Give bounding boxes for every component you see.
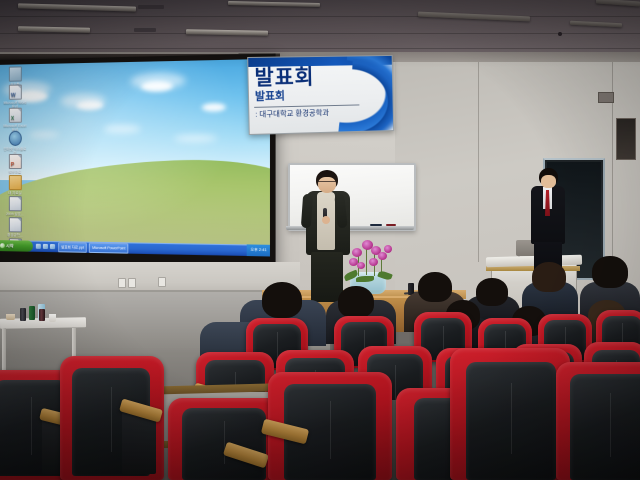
windows-logo-icon xyxy=(0,243,5,248)
banner-subtitle: 발표회 xyxy=(255,90,285,104)
quick-launch-icon[interactable] xyxy=(50,244,55,249)
ceiling-light-fixture xyxy=(186,29,268,35)
green-bottle xyxy=(29,306,35,320)
audience-head xyxy=(532,262,566,292)
orchid-bloom xyxy=(369,258,378,266)
icon-label: PPT 발표회... xyxy=(3,254,27,256)
banner-swoosh-graphic-2 xyxy=(349,59,394,135)
ceiling-light-fixture xyxy=(418,12,530,22)
start-button[interactable]: 시작 xyxy=(0,240,33,252)
orchid-bloom xyxy=(384,245,392,253)
ie-glyph xyxy=(8,131,21,146)
wall-mounted-box xyxy=(598,92,614,103)
ceiling-light-fixture xyxy=(18,3,136,11)
ceiling-vent xyxy=(134,28,156,32)
quick-launch-icon[interactable] xyxy=(36,244,41,249)
audience-head xyxy=(476,278,508,306)
orchid-bloom xyxy=(357,262,365,269)
excel-doc-glyph xyxy=(8,108,21,123)
start-button-label: 시작 xyxy=(6,240,14,251)
presenter-hand xyxy=(322,216,330,224)
banner-department-line: : 대구대학교 환경공학과 xyxy=(255,108,329,120)
taskbar-task-1[interactable]: 발표회 자료.ppt xyxy=(58,242,87,253)
lecture-hall-photo: 휴지통 Microsoft Word 문서 Microsoft Excel 문서… xyxy=(0,0,640,480)
audience-head xyxy=(592,256,628,288)
auditorium-seat[interactable] xyxy=(450,348,570,480)
tray-clock: 오후 2:41 xyxy=(250,244,266,256)
auditorium-seat[interactable] xyxy=(268,372,392,480)
orchid-bloom xyxy=(378,252,387,260)
orchid-leaf xyxy=(356,276,374,282)
icon-label: 환경공학... xyxy=(3,233,27,237)
audience-head xyxy=(418,272,452,302)
word-doc-glyph xyxy=(8,85,21,100)
audience-head xyxy=(338,286,374,318)
paper-cup xyxy=(6,314,15,320)
auditorium-seat[interactable] xyxy=(556,362,640,480)
file-doc-icon-2[interactable]: 환경공학... xyxy=(3,217,27,237)
whiteboard-marker[interactable] xyxy=(386,224,396,226)
ceiling-light-fixture xyxy=(228,1,320,7)
folder-icon[interactable]: 내 자료실 xyxy=(3,175,27,195)
ppt-doc-icon[interactable]: 발표자료 xyxy=(3,154,27,174)
glasses-icon xyxy=(318,181,336,185)
drink-can xyxy=(39,309,45,321)
ceiling-vent xyxy=(138,5,164,9)
taskbar-task-list[interactable]: 발표회 자료.ppt Microsoft PowerPoint xyxy=(58,242,247,256)
file-doc-glyph xyxy=(8,196,21,211)
event-banner: 발표회 발표회 : 대구대학교 환경공학과 xyxy=(247,55,394,135)
projection-surface: 휴지통 Microsoft Word 문서 Microsoft Excel 문서… xyxy=(0,59,270,257)
table-leg xyxy=(2,328,6,370)
ppt-doc-glyph xyxy=(8,154,21,169)
icon-label: 2009 발표... xyxy=(3,212,27,216)
staff-face xyxy=(541,175,556,188)
banner-title: 발표회 xyxy=(254,67,314,90)
ceiling-light-fixture xyxy=(18,26,90,33)
audience-head xyxy=(262,282,302,318)
power-outlet xyxy=(118,278,126,288)
presenter-trousers xyxy=(311,252,343,302)
presenter-with-microphone xyxy=(300,170,356,302)
ceiling-sensor xyxy=(558,32,562,36)
power-outlet xyxy=(158,277,166,287)
icon-label: 발표자료 xyxy=(3,170,27,174)
system-tray[interactable]: 오후 2:41 xyxy=(247,244,270,256)
file-doc-glyph xyxy=(8,217,21,232)
wall-panel-dark xyxy=(616,118,636,160)
taskbar-task-2[interactable]: Microsoft PowerPoint xyxy=(89,242,129,253)
auditorium-seat[interactable] xyxy=(168,398,280,480)
whiteboard-marker[interactable] xyxy=(370,224,382,226)
word-doc-icon[interactable]: Microsoft Word 문서 xyxy=(3,84,27,108)
recycle-bin-glyph xyxy=(8,66,21,81)
quick-launch-icon[interactable] xyxy=(43,244,48,249)
ceiling-light-fixture xyxy=(570,21,622,28)
icon-label: 내 자료실 xyxy=(3,191,27,195)
power-outlet xyxy=(128,278,136,288)
drink-can xyxy=(20,308,26,321)
folder-glyph xyxy=(8,175,21,190)
quick-launch-bar[interactable] xyxy=(33,244,58,250)
ie-icon[interactable]: 인터넷 익스플로러 xyxy=(3,131,27,155)
auditorium-seat[interactable] xyxy=(60,356,164,480)
paper-cup xyxy=(49,314,56,322)
file-doc-icon-1[interactable]: 2009 발표... xyxy=(3,196,27,216)
ceiling-light-fixture xyxy=(596,0,640,7)
presenter-face xyxy=(318,177,336,193)
projection-screen[interactable]: 휴지통 Microsoft Word 문서 Microsoft Excel 문서… xyxy=(0,53,276,272)
excel-doc-icon[interactable]: Microsoft Excel 문서 xyxy=(3,108,27,132)
